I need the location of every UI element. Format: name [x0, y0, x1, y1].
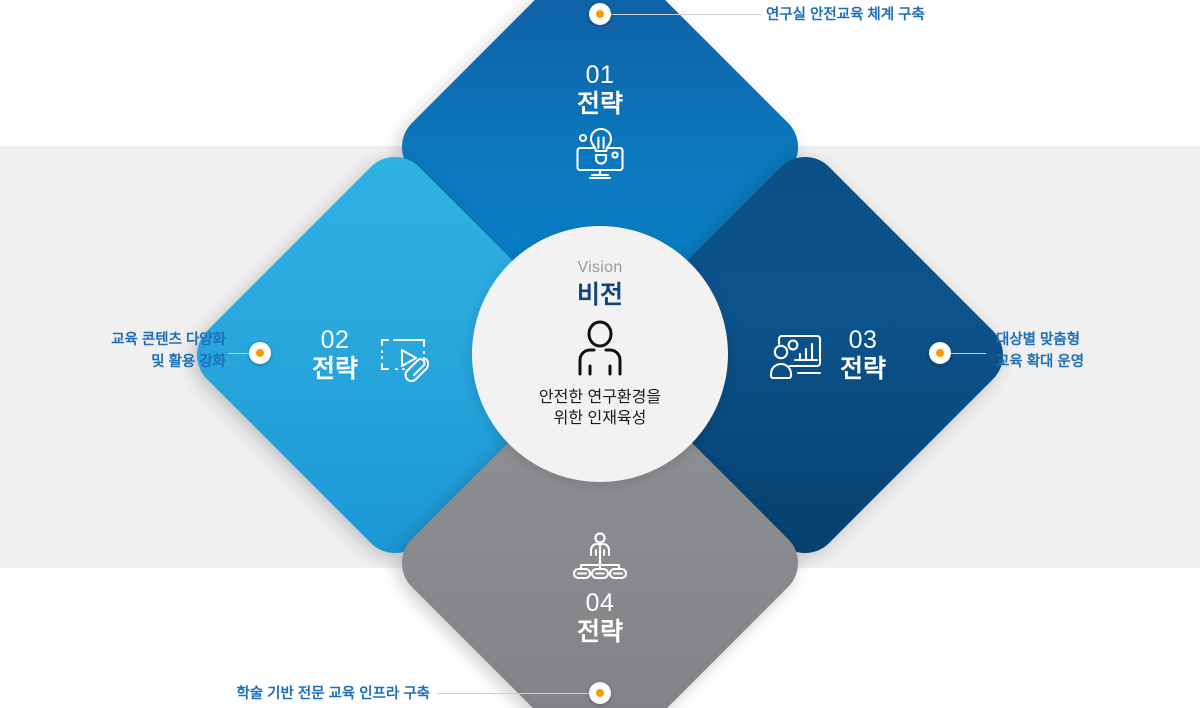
caption-02-line1: 교육 콘텐츠 다양화	[48, 330, 226, 352]
strategy-label-02: 전략	[312, 355, 358, 385]
strategy-diagram: 01 전략	[0, 0, 1200, 708]
caption-04: 학술 기반 전문 교육 인프라 구축	[125, 684, 430, 706]
strategy-number-04: 04	[577, 589, 623, 619]
vision-label-ko: 비전	[577, 282, 623, 310]
vision-description-line1: 안전한 연구환경을	[539, 387, 661, 408]
connector-dot-01[interactable]	[589, 3, 611, 25]
video-attachment-icon	[372, 327, 434, 383]
strategy-content-01: 01 전략	[570, 61, 630, 182]
strategy-number-03: 03	[840, 326, 886, 356]
caption-03-line2: 교육 확대 운영	[996, 352, 1176, 374]
strategy-number-02: 02	[312, 326, 358, 356]
vision-label-en: Vision	[577, 260, 622, 276]
connector-dot-02[interactable]	[249, 342, 271, 364]
strategy-label-01: 전략	[577, 90, 623, 120]
caption-01: 연구실 안전교육 체계 구축	[766, 5, 925, 27]
connector-dot-04[interactable]	[589, 682, 611, 704]
org-chart-icon	[572, 531, 628, 583]
vision-circle: Vision 비전 안전한 연구환경을 위한 인재육성	[472, 226, 728, 482]
caption-01-line1: 연구실 안전교육 체계 구축	[766, 5, 925, 27]
strategy-label-04: 전략	[577, 618, 623, 648]
monitor-lightbulb-icon	[570, 126, 630, 182]
connector-dot-03[interactable]	[929, 342, 951, 364]
strategy-content-04: 04 전략	[572, 531, 628, 648]
connector-line-04	[437, 693, 589, 694]
strategy-number-block-01: 01 전략	[577, 61, 623, 120]
person-presentation-chart-icon	[768, 328, 826, 382]
caption-02: 교육 콘텐츠 다양화 및 활용 강화	[48, 330, 226, 374]
caption-02-line2: 및 활용 강화	[48, 352, 226, 374]
strategy-content-03: 03 전략	[768, 326, 886, 385]
strategy-number-block-02: 02 전략	[312, 326, 358, 385]
connector-line-03	[950, 353, 986, 354]
strategy-content-02: 02 전략	[312, 326, 434, 385]
vision-description-line2: 위한 인재육성	[539, 408, 661, 429]
strategy-number-block-03: 03 전략	[840, 326, 886, 385]
caption-04-line1: 학술 기반 전문 교육 인프라 구축	[125, 684, 430, 706]
connector-line-01	[611, 14, 761, 15]
caption-03-line1: 대상별 맞춤형	[996, 330, 1176, 352]
strategy-number-block-04: 04 전략	[577, 589, 623, 648]
person-icon	[573, 320, 627, 381]
caption-03: 대상별 맞춤형 교육 확대 운영	[996, 330, 1176, 374]
strategy-label-03: 전략	[840, 355, 886, 385]
strategy-number-01: 01	[577, 61, 623, 91]
vision-description: 안전한 연구환경을 위한 인재육성	[539, 387, 661, 429]
